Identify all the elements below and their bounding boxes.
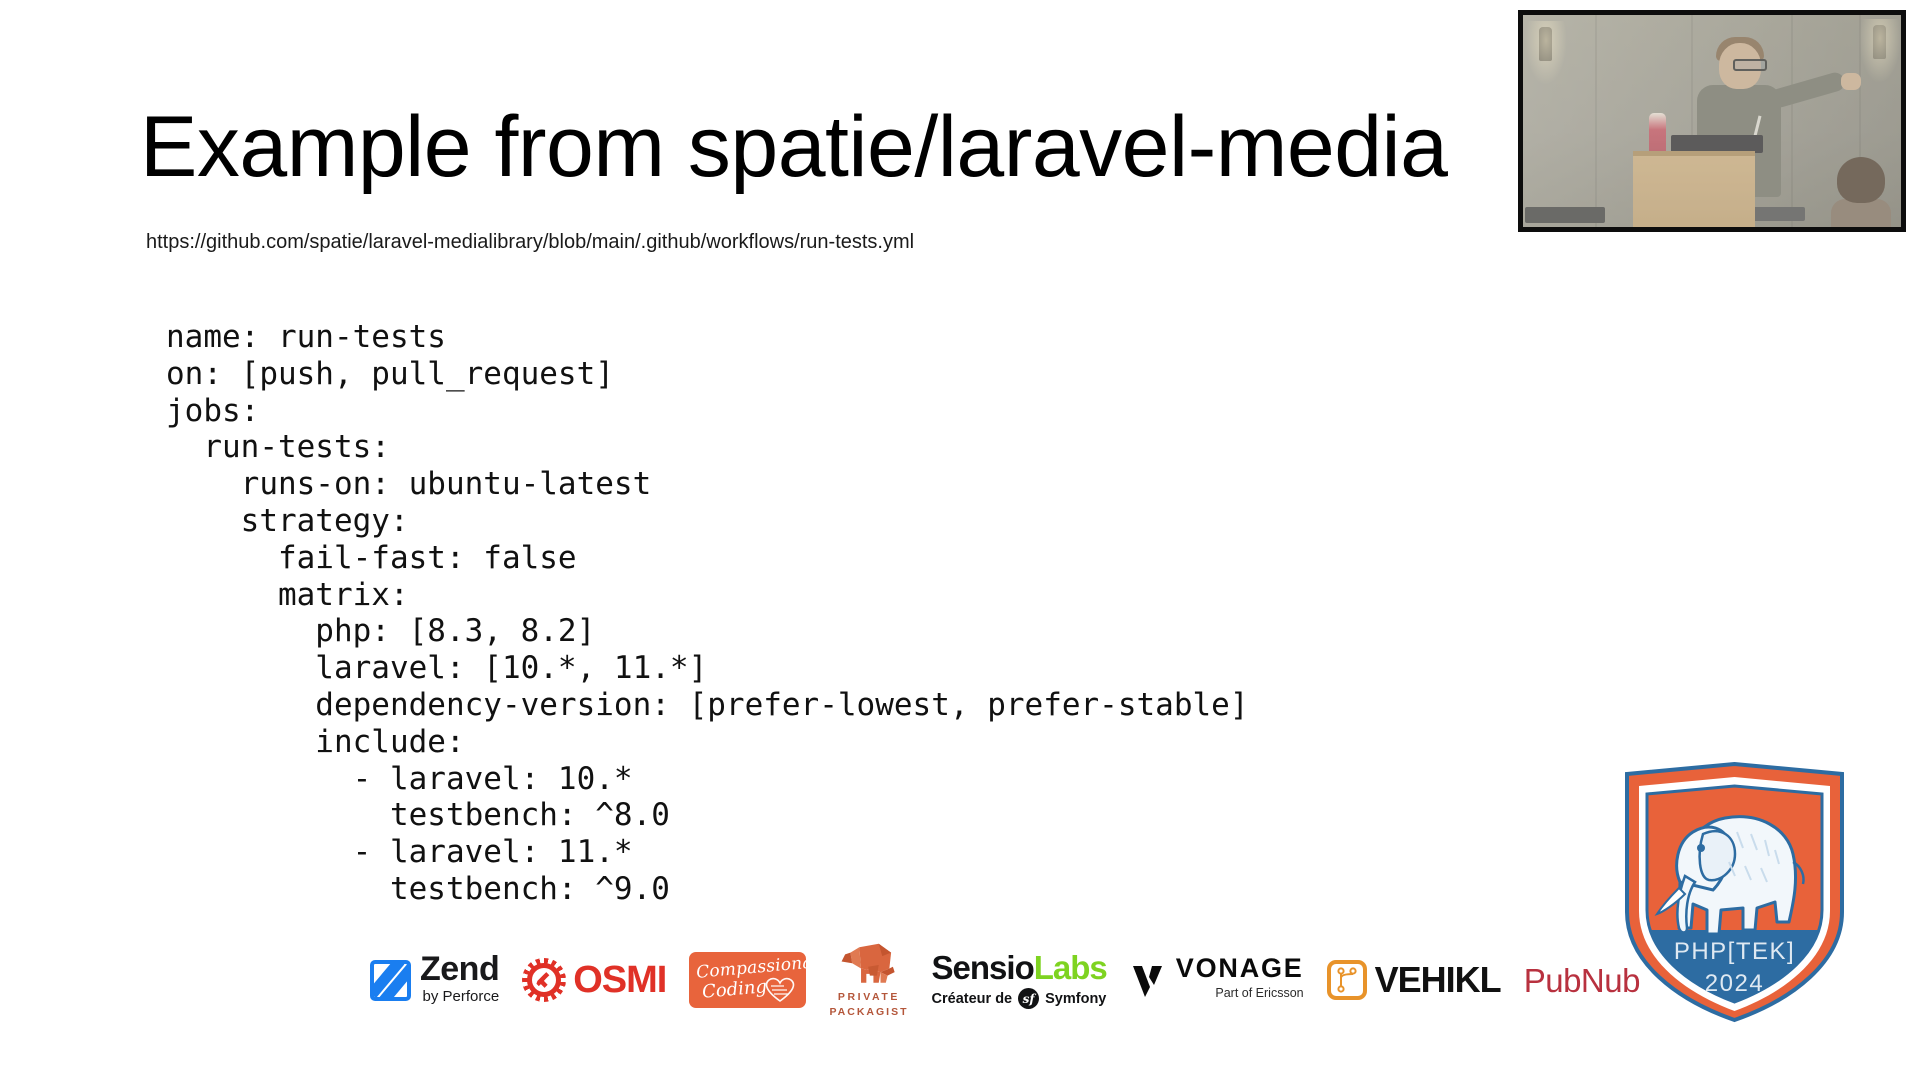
vehikl-node-icon (1327, 960, 1367, 1000)
badge-year-label: 2024 (1617, 970, 1852, 998)
sponsor-logo-osmi[interactable]: OSMI (522, 942, 666, 1018)
code-line: - laravel: 11.* (166, 834, 1249, 871)
code-line: php: [8.3, 8.2] (166, 613, 1249, 650)
zend-wordmark: Zend (420, 952, 499, 986)
elephant-icon (832, 942, 906, 988)
labs-wordmark: Labs (1034, 949, 1107, 986)
badge-event-label: PHP[TEK] (1617, 938, 1852, 966)
code-line: testbench: ^9.0 (166, 871, 1249, 908)
sponsor-logo-zend[interactable]: Zend by Perforce (370, 942, 499, 1018)
compassionate-coding-card: Compassionate Coding (689, 952, 806, 1008)
vehikl-wordmark: VEHIKL (1375, 962, 1501, 998)
code-line: on: [push, pull_request] (166, 356, 1249, 393)
vonage-tagline: Part of Ericsson (1215, 982, 1303, 1005)
sponsor-logo-private-packagist[interactable]: PRIVATE PACKAGIST (829, 942, 908, 1018)
sensio-wordmark: Sensio (932, 949, 1034, 986)
pp-line-1: PRIVATE (838, 991, 900, 1003)
gear-icon (522, 958, 566, 1002)
podium (1633, 151, 1755, 232)
code-line: strategy: (166, 503, 1249, 540)
sponsor-logo-bar: Zend by Perforce OSMI Compassionate Codi… (370, 930, 1640, 1030)
code-line: name: run-tests (166, 319, 1249, 356)
sponsor-logo-vehikl[interactable]: VEHIKL (1327, 942, 1501, 1018)
sponsor-logo-vonage[interactable]: VONAGE Part of Ericsson (1130, 942, 1304, 1018)
table-left (1525, 207, 1605, 223)
code-line: testbench: ^8.0 (166, 797, 1249, 834)
wall-sconce-icon (1539, 27, 1552, 61)
sponsor-logo-sensiolabs[interactable]: SensioLabs Créateur de sf Symfony (932, 942, 1107, 1018)
slide-canvas: Example from spatie/laravel-media https:… (0, 0, 1920, 1080)
drink-bottle (1649, 113, 1666, 155)
zend-mark-icon (370, 960, 411, 1001)
speaker-glasses (1733, 59, 1767, 71)
zend-tagline: by Perforce (423, 986, 500, 1009)
phptek-badge: PHP[TEK] 2024 (1617, 762, 1852, 1024)
code-line: - laravel: 10.* (166, 761, 1249, 798)
sponsor-logo-compassionate-coding[interactable]: Compassionate Coding (689, 942, 806, 1018)
code-line: include: (166, 724, 1249, 761)
speaker-video-overlay[interactable] (1518, 10, 1906, 232)
heart-icon (762, 973, 798, 1003)
vonage-mark-icon (1130, 961, 1168, 999)
page-title: Example from spatie/laravel-media (140, 104, 1447, 190)
code-line: runs-on: ubuntu-latest (166, 466, 1249, 503)
code-line: laravel: [10.*, 11.*] (166, 650, 1249, 687)
code-line: run-tests: (166, 429, 1249, 466)
audience-member (1829, 157, 1891, 227)
sensiolabs-tagline: Créateur de (932, 991, 1013, 1007)
pp-line-2: PACKAGIST (829, 1006, 908, 1018)
cc-line-2: Coding (702, 976, 769, 1003)
vonage-wordmark: VONAGE (1176, 955, 1304, 982)
symfony-icon: sf (1018, 988, 1039, 1009)
code-line: matrix: (166, 577, 1249, 614)
symfony-wordmark: Symfony (1045, 991, 1106, 1007)
speaker-hand (1841, 73, 1861, 90)
yaml-code-block: name: run-testson: [push, pull_request]j… (166, 319, 1249, 908)
source-url-label: https://github.com/spatie/laravel-medial… (146, 230, 914, 254)
video-frame (1523, 15, 1901, 227)
wall-sconce-icon (1873, 25, 1886, 59)
osmi-wordmark: OSMI (573, 961, 666, 999)
code-line: fail-fast: false (166, 540, 1249, 577)
code-line: dependency-version: [prefer-lowest, pref… (166, 687, 1249, 724)
code-line: jobs: (166, 393, 1249, 430)
